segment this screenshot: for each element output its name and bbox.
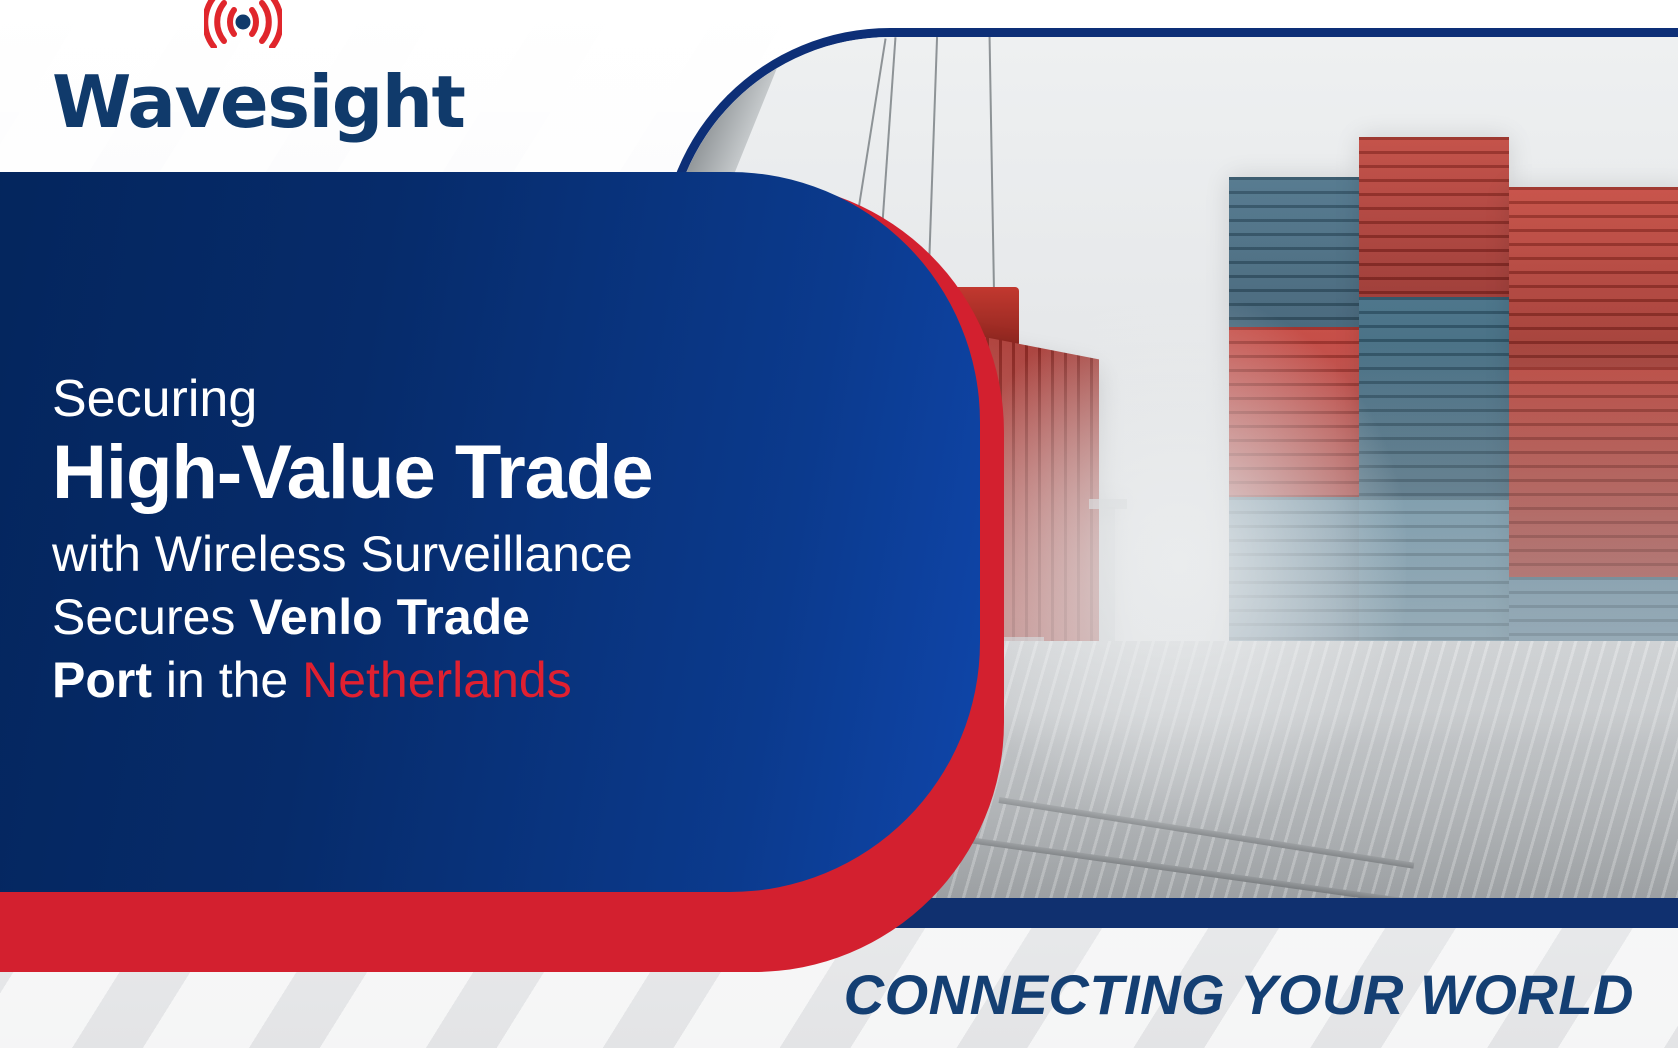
headline-line-4-text: Secures [52,589,249,645]
headline-line-4: Secures Venlo Trade [52,586,812,649]
container-unit [1229,327,1359,497]
headline-line-3: with Wireless Surveillance [52,523,812,586]
brand-logo[interactable]: Wavesight [52,38,464,138]
headline-line-1: Securing [52,372,812,427]
marketing-banner: Wavesight Securing High-Value Trade with… [0,0,1678,1048]
headline-line-5-bold: Port [52,652,152,708]
container-unit [1359,297,1509,497]
container-unit [1509,187,1678,367]
container-unit [1229,177,1359,327]
headline-country-highlight: Netherlands [302,652,572,708]
signal-wave-icon [204,0,282,48]
headline-line-4-bold: Venlo Trade [249,589,530,645]
headline-line-3-text: with Wireless Surveillance [52,526,633,582]
headline-subline-block: with Wireless Surveillance Secures Venlo… [52,523,812,712]
headline-line-5-text: in the [152,652,302,708]
container-unit [1359,137,1509,297]
footer-tagline: CONNECTING YOUR WORLD [844,962,1634,1027]
container-unit [1509,367,1678,577]
headline-block: Securing High-Value Trade with Wireless … [52,372,812,712]
logo-wordmark: Wavesight [52,66,464,138]
headline-line-5: Port in the Netherlands [52,649,812,712]
headline-line-2: High-Value Trade [52,433,812,513]
distant-structure [1089,499,1127,509]
